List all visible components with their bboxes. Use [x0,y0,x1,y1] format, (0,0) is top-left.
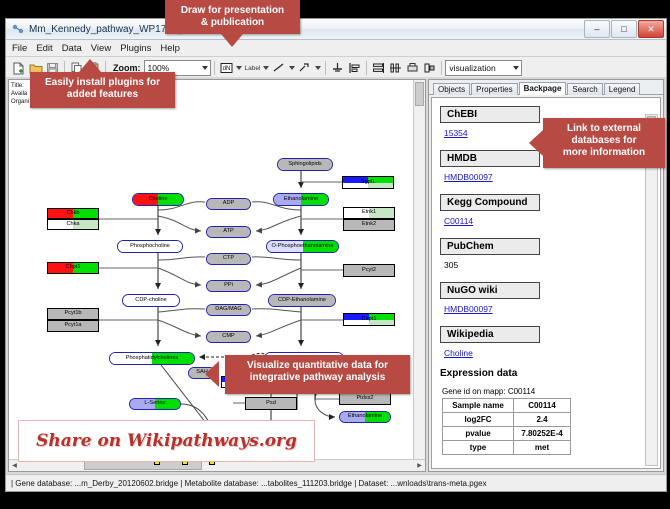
menu-item-edit[interactable]: Edit [36,43,52,54]
row-key: pvalue [443,427,514,441]
node-pcyt2[interactable]: Pcyt2 [343,264,395,277]
node-label: Ethanolamine [348,414,382,420]
node-chpt1[interactable]: Chpt1 [47,262,99,274]
section-header-chebi: ChEBI [440,106,540,123]
node-o-phosphoethanolamine[interactable]: O-Phosphoethanolamine [266,240,339,253]
node-label: Psd [266,401,276,407]
table-row: log2FC 2.4 [443,413,571,427]
screenshot-root: Mm_Kennedy_pathway_WP1771_45176.gpml – □… [0,0,670,509]
node-label: CDP-Ethanolamine [278,298,326,304]
node-dagmag[interactable]: DAG/MAG [206,304,251,316]
tab-search[interactable]: Search [567,83,602,95]
datanode-dropdown-icon[interactable] [235,60,244,76]
node-label: CMP [222,334,234,340]
status-text: | Gene database: ...m_Derby_20120602.bri… [6,479,487,488]
minimize-button[interactable]: – [584,20,610,38]
node-label: Chka [66,222,79,228]
group-icon[interactable] [404,60,421,77]
node-cdp-ethanolamine[interactable]: CDP-Ethanolamine [268,294,336,307]
menu-bar: File Edit Data View Plugins Help [6,40,666,57]
table-row: Sample name C00114 [443,399,571,413]
canvas-vertical-scrollbar[interactable] [413,80,425,460]
node-label: Etnk2 [362,222,376,228]
row-value: 2.4 [514,413,571,427]
node-sphingolipids[interactable]: Sphingolipids [277,158,333,171]
node-label: Pcyt2 [362,268,376,274]
node-label: Pcyt1b [64,311,81,317]
section-header-kegg-compound: Kegg Compound [440,194,540,211]
tab-properties[interactable]: Properties [471,83,517,95]
anno-link-text: Link to external databases for more info… [563,123,645,158]
expression-data-heading: Expression data [440,368,652,379]
anno-draw-arrow-icon [221,34,243,47]
row-value: 7.80252E-4 [514,427,571,441]
interaction-icon[interactable] [296,60,313,77]
window-controls: – □ ✕ [584,20,664,38]
pathway-canvas[interactable]: Title: Availa Organi [8,79,426,472]
node-phosphatidylcholines[interactable]: Phosphatidylcholines [109,352,195,365]
node-ethanolamine-right[interactable]: Ethanolamine [339,411,391,423]
interaction-dropdown-icon[interactable] [313,60,322,76]
row-key: log2FC [443,413,514,427]
section-header-wikipedia: Wikipedia [440,326,540,343]
table-row: pvalue 7.80252E-4 [443,427,571,441]
node-label: L-Serine [144,401,165,407]
anno-draw-text: Draw for presentation & publication [181,5,284,28]
menu-item-data[interactable]: Data [62,43,82,54]
node-ethanolamine-top[interactable]: Ethanolamine [273,193,329,206]
node-ppi[interactable]: PPi [206,280,251,292]
order-icon[interactable] [421,60,438,77]
pathvisio-icon [12,23,24,35]
chevron-down-icon [202,66,208,70]
status-bar: | Gene database: ...m_Derby_20120602.bri… [6,474,666,491]
tab-backpage[interactable]: Backpage [519,82,567,95]
node-etnk2[interactable]: Etnk2 [343,219,395,231]
node-label: ADP [223,201,235,207]
node-etnk1[interactable]: Etnk1 [343,207,395,219]
anno-plugins-text: Easily install plugins for added feature… [45,77,160,100]
anno-visualize-quantitative-data: Visualize quantitative data for integrat… [225,355,410,394]
link-kegg-compound[interactable]: C00114 [444,216,652,226]
link-nugo-wiki[interactable]: HMDB00097 [444,304,652,314]
new-file-icon[interactable] [10,60,27,77]
link-wikipedia[interactable]: Choline [444,348,652,358]
node-label: Phosphatidylcholines [126,356,179,362]
row-value: C00114 [514,399,571,413]
node-label: Sphingolipids [288,162,321,168]
anno-plugins-arrow-icon [79,59,101,72]
line-icon[interactable] [270,60,287,77]
label-dropdown-icon[interactable] [261,60,270,76]
datanode-icon[interactable]: dN [218,60,235,77]
row-value: met [514,441,571,455]
align-columns-icon[interactable] [387,60,404,77]
node-label: ATP [223,229,233,235]
align-left-icon[interactable] [346,60,363,77]
node-chkb[interactable]: Chkb [47,208,99,219]
node-label: Phosphocholine [130,244,170,250]
align-rows-icon[interactable] [370,60,387,77]
anno-share-text: Share on Wikipathways.org [36,431,297,451]
node-label: PPi [224,283,233,289]
value-pubchem: 305 [444,260,652,270]
visualization-combo[interactable]: visualization [445,60,522,76]
node-atp[interactable]: ATP [206,226,251,238]
node-label: Ethanolamine [284,197,318,203]
node-label: Pcyt1a [64,323,81,329]
menu-item-view[interactable]: View [91,43,111,54]
anno-share-on-wikipathways: Share on Wikipathways.org [18,420,315,462]
anno-link-arrow-icon [529,130,543,156]
node-cmp[interactable]: CMP [206,331,251,343]
menu-item-file[interactable]: File [12,43,27,54]
anno-visualize-text: Visualize quantitative data for integrat… [247,360,388,383]
row-key: Sample name [443,399,514,413]
expression-table: Sample name C00114 log2FC 2.4 pvalue 7.8… [442,398,571,455]
node-cept1[interactable]: Cept1 [343,313,395,326]
node-label: Sgpl1 [361,180,375,186]
node-cdp-choline[interactable]: CDP-choline [122,294,180,307]
node-l-serine-left[interactable]: L-Serine [129,398,181,410]
section-header-hmdb: HMDB [440,150,540,167]
node-psd[interactable]: Psd [245,397,297,410]
chevron-down-icon [513,66,519,70]
node-label: Chkb [66,211,79,217]
link-hmdb[interactable]: HMDB00097 [444,172,652,182]
row-key: type [443,441,514,455]
anno-draw-for-presentation: Draw for presentation & publication [165,0,300,34]
gene-id-on-mapp: Gene id on mapp: C00114 [442,387,652,396]
node-phosphocholine[interactable]: Phosphocholine [117,240,183,253]
side-panel-tabs: Objects Properties Backpage Search Legen… [429,80,663,95]
title-bar: Mm_Kennedy_pathway_WP1771_45176.gpml – □… [6,19,666,40]
menu-item-plugins[interactable]: Plugins [120,43,151,54]
close-button[interactable]: ✕ [638,20,664,38]
node-pcyt1b[interactable]: Pcyt1b [47,308,99,320]
node-ptdss2[interactable]: Ptdss2 [339,393,391,405]
node-ctp[interactable]: CTP [206,253,251,265]
node-label: CDP-choline [135,298,166,304]
tab-legend[interactable]: Legend [604,83,641,95]
anno-visualize-arrow-icon [205,361,219,387]
node-label: O-Phosphoethanolamine [272,244,334,250]
tab-objects[interactable]: Objects [433,83,470,95]
visualization-value: visualization [449,63,495,73]
menu-item-help[interactable]: Help [160,43,180,54]
node-chka[interactable]: Chka [47,219,99,230]
node-label: Choline [149,197,168,203]
node-label: Cept1 [362,317,377,323]
node-adp[interactable]: ADP [206,198,251,210]
node-pcyt1a[interactable]: Pcyt1a [47,320,99,332]
node-label: Ptdss2 [356,396,373,402]
node-label: CTP [223,256,234,262]
node-choline-top[interactable]: Choline [132,193,184,206]
node-label: Chpt1 [66,265,81,271]
line-dropdown-icon[interactable] [287,60,296,76]
maximize-button[interactable]: □ [611,20,637,38]
node-label: Etnk1 [362,210,376,216]
label-tool-label[interactable]: Label [244,65,262,72]
anno-easily-install-plugins: Easily install plugins for added feature… [30,72,175,108]
node-sgpl1[interactable]: Sgpl1 [342,176,394,189]
anno-link-external-databases: Link to external databases for more info… [543,118,665,168]
section-header-nugo-wiki: NuGO wiki [440,282,540,299]
svg-text:dN: dN [222,66,230,72]
node-label: DAG/MAG [215,307,241,313]
section-header-pubchem: PubChem [440,238,540,255]
table-row: type met [443,441,571,455]
anchor-icon[interactable] [329,60,346,77]
